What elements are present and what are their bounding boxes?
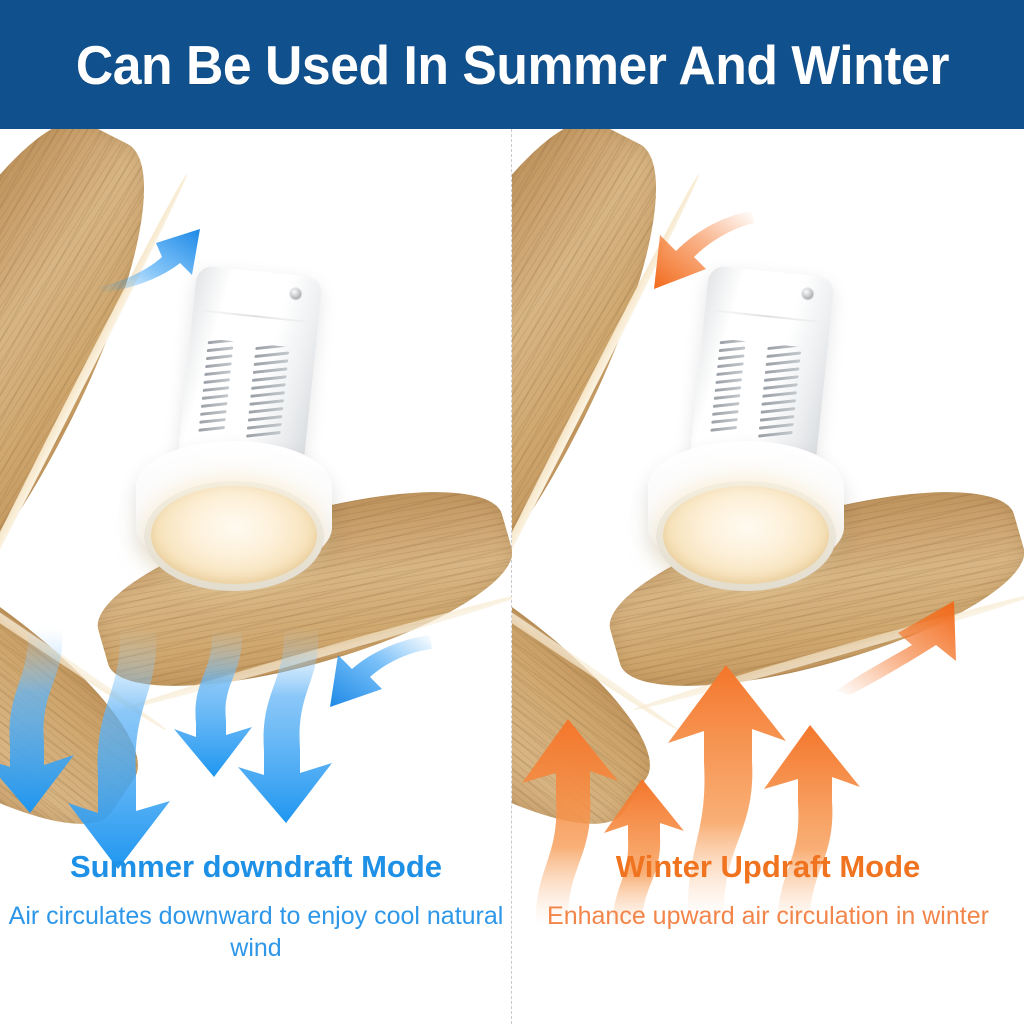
caption-body-summer: Air circulates downward to enjoy cool na… — [0, 900, 512, 964]
housing-screw-icon — [802, 288, 814, 300]
blade-direction-arrow-summer — [96, 191, 226, 301]
motor-vent-slots-left — [197, 338, 234, 448]
caption-title-winter: Winter Updraft Mode — [512, 851, 1024, 884]
caption-winter: Winter Updraft Mode Enhance upward air c… — [512, 851, 1024, 932]
motor-vent-slots-right — [757, 344, 802, 455]
caption-summer: Summer downdraft Mode Air circulates dow… — [0, 851, 512, 964]
panel-summer: Summer downdraft Mode Air circulates dow… — [0, 129, 512, 1024]
motor-vent-slots-right — [245, 344, 290, 455]
housing-screw-icon — [290, 288, 302, 300]
fan-light-kit — [648, 441, 844, 599]
comparison-stage: Summer downdraft Mode Air circulates dow… — [0, 129, 1024, 1024]
fan-light-kit — [136, 441, 332, 599]
airflow-intake-arrow-summer — [296, 629, 436, 749]
led-light-lens — [151, 486, 317, 584]
airflow-outflow-arrow-winter — [832, 549, 992, 699]
caption-body-winter: Enhance upward air circulation in winter — [512, 900, 1024, 932]
panel-winter: Winter Updraft Mode Enhance upward air c… — [512, 129, 1024, 1024]
led-light-lens — [663, 486, 829, 584]
ceiling-fan-summer — [0, 129, 512, 889]
header-banner: Can Be Used In Summer And Winter — [0, 0, 1024, 129]
motor-vent-slots-left — [709, 338, 746, 448]
caption-title-summer: Summer downdraft Mode — [0, 851, 512, 884]
page-title: Can Be Used In Summer And Winter — [75, 33, 948, 97]
ceiling-fan-winter — [512, 129, 1024, 889]
infographic-page: Can Be Used In Summer And Winter — [0, 0, 1024, 1024]
blade-direction-arrow-winter — [608, 209, 758, 329]
